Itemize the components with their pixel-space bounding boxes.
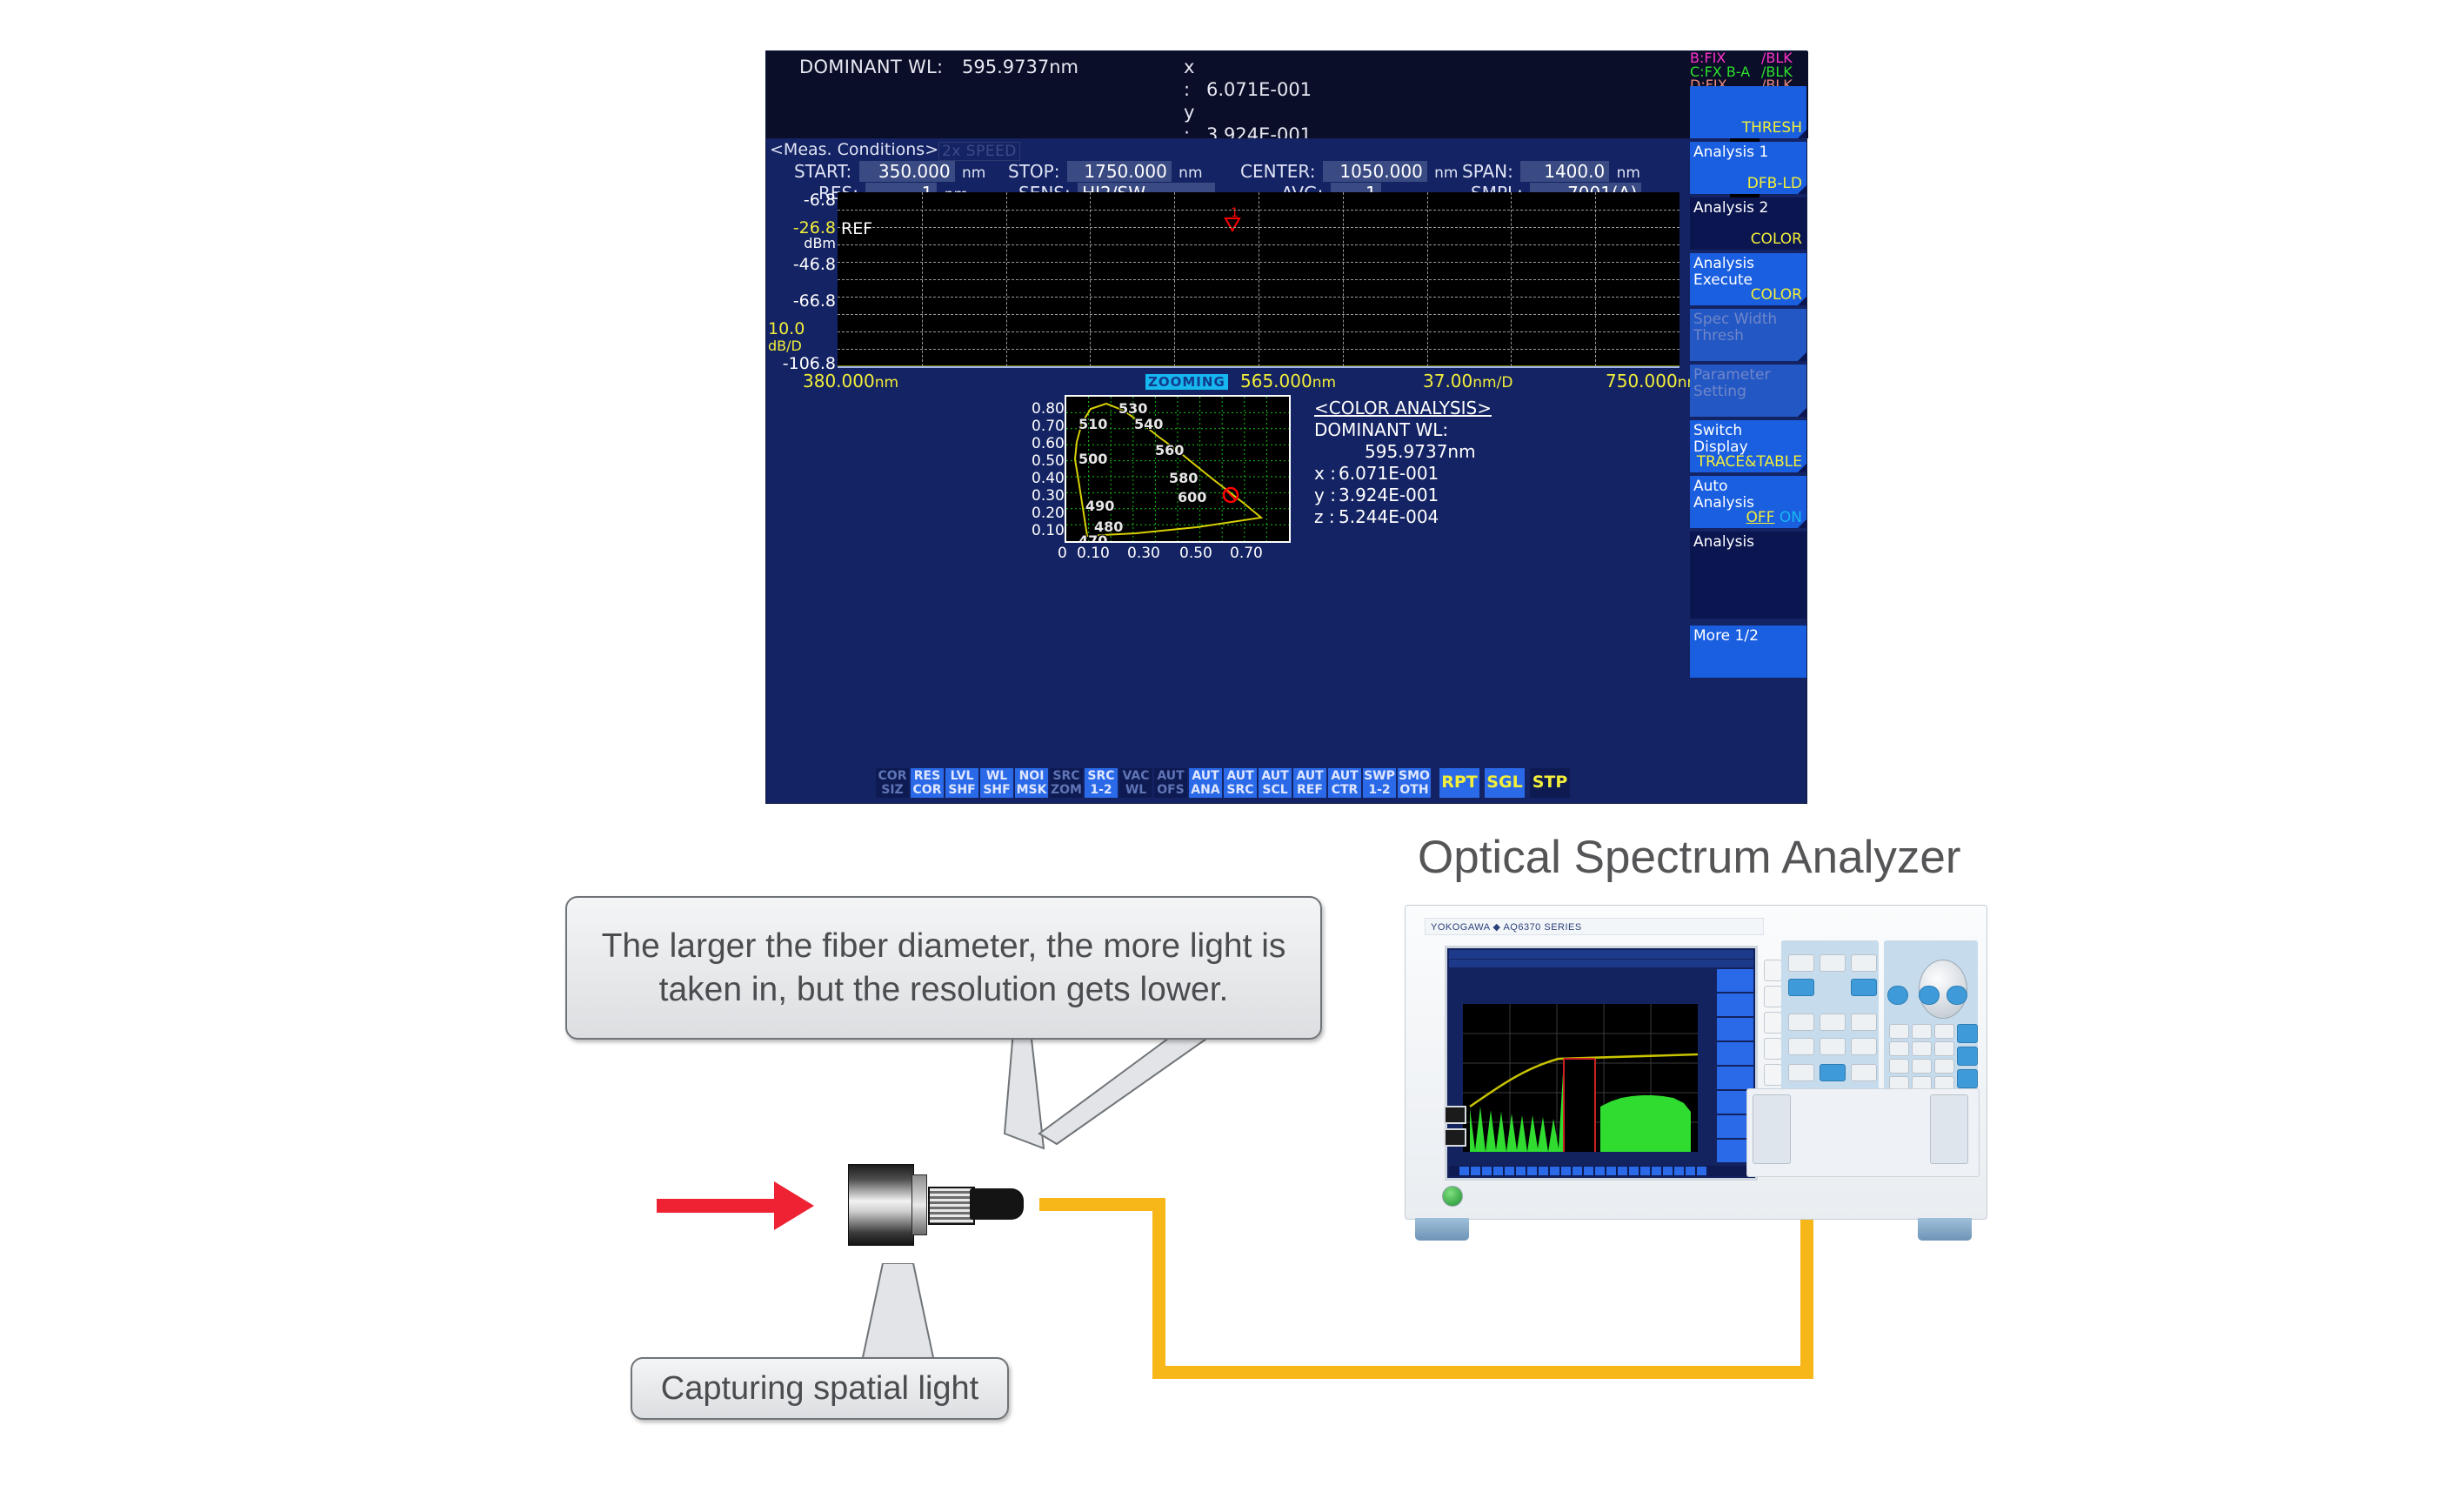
status-cell-bottom: OFS <box>1154 783 1187 797</box>
numeric-key[interactable] <box>1889 1059 1909 1074</box>
softkey-corner-marker <box>1798 185 1806 194</box>
front-panel-key[interactable] <box>1820 1064 1846 1081</box>
display-status-cell <box>1697 1167 1706 1175</box>
ca-y-value: 3.924E-001 <box>1339 485 1439 505</box>
chroma-x-tick: 0.70 <box>1230 545 1263 562</box>
softkey-panel: THRESHAnalysis 1DFB-LDAnalysis 2COLORAna… <box>1688 51 1808 805</box>
ca-x-value: 6.071E-001 <box>1339 463 1439 484</box>
span-unit: nm <box>1617 164 1640 182</box>
front-panel-key[interactable] <box>1788 1038 1814 1055</box>
unit-key[interactable] <box>1957 1047 1978 1066</box>
collimator-ring <box>911 1174 927 1235</box>
instrument-foot-left <box>1415 1218 1469 1241</box>
chromaticity-diagram: 0.800.700.600.500.400.300.200.10 00.100.… <box>1032 395 1298 556</box>
softkey-auto-analysis[interactable]: AutoAnalysisOFF ON <box>1690 476 1806 528</box>
meas-conditions-panel: <Meas. Conditions> 2x SPEED START: 350.0… <box>766 138 1686 191</box>
tail-to-connector <box>1005 1031 1044 1148</box>
display-status-cell <box>1663 1167 1673 1175</box>
status-cell-top: COR <box>876 769 909 783</box>
softkey-value: COLOR <box>1751 231 1802 248</box>
grid-line-horizontal <box>838 279 1679 280</box>
display-green-noise-left <box>1470 1058 1564 1152</box>
display-plateau-fill <box>1564 1059 1595 1152</box>
chroma-x-tick: 0.30 <box>1127 545 1160 562</box>
softkey-corner-marker <box>1798 408 1806 417</box>
numeric-key[interactable] <box>1934 1024 1954 1039</box>
status-cell-top: VAC <box>1119 769 1152 783</box>
fiber-boot <box>970 1188 1024 1220</box>
status-cell-autofs[interactable]: AUTOFS <box>1154 768 1187 798</box>
y-axis: -6.8 -26.8 dBm -46.8 -66.8 10.0 dB/D -10… <box>766 192 838 379</box>
front-panel-key[interactable] <box>1820 954 1846 972</box>
color-analysis-panel: <COLOR ANALYSIS> DOMINANT WL: 595.9737nm… <box>1314 398 1492 528</box>
sweep-button-sgl[interactable]: SGL <box>1485 768 1525 798</box>
status-cell-bottom: ANA <box>1189 783 1222 797</box>
power-button[interactable] <box>1442 1186 1463 1207</box>
usb-port-2[interactable] <box>1444 1128 1466 1147</box>
status-cell-bottom: REF <box>1293 783 1326 797</box>
display-softkey[interactable] <box>1717 1067 1753 1089</box>
start-unit: nm <box>962 164 985 182</box>
connector-knurl <box>928 1187 975 1225</box>
display-status-cell <box>1674 1167 1684 1175</box>
ca-x-key: x : <box>1314 463 1339 485</box>
callout-capturing-spatial-light: Capturing spatial light <box>631 1357 1009 1420</box>
instrument-brand-label: YOKOGAWA ◆ AQ6370 SERIES <box>1425 918 1764 935</box>
status-cell-bottom: SCL <box>1259 783 1292 797</box>
grid-line-horizontal <box>838 227 1679 228</box>
usb-port-1[interactable] <box>1444 1106 1466 1124</box>
spatial-tail <box>831 1263 1022 1372</box>
field-center[interactable]: CENTER: 1050.000 nm <box>1240 161 1459 182</box>
chroma-wavelength-tag: 490 <box>1085 498 1114 514</box>
fiber-segment-3 <box>1152 1366 1813 1379</box>
display-status-cell <box>1618 1167 1627 1175</box>
display-status-cell <box>1606 1167 1616 1175</box>
softkey-corner-marker <box>1798 464 1806 472</box>
stop-unit: nm <box>1179 164 1202 182</box>
chroma-wavelength-tag: 560 <box>1155 442 1184 458</box>
status-cell-top: AUT <box>1259 769 1292 783</box>
display-status-cell <box>1459 1167 1469 1175</box>
chroma-y-tick: 0.20 <box>1032 505 1063 522</box>
x-tick-start: 380.000nm <box>803 371 898 391</box>
front-panel-key[interactable] <box>1820 1014 1846 1031</box>
status-cell-wlshf[interactable]: WLSHF <box>980 768 1013 798</box>
instrument-display <box>1445 946 1758 1181</box>
fiber-collimator <box>848 1164 1052 1244</box>
field-stop[interactable]: STOP: 1750.000 nm <box>1008 161 1203 182</box>
display-status-cell <box>1652 1167 1661 1175</box>
status-cell-src1-2[interactable]: SRC1-2 <box>1085 768 1118 798</box>
chroma-wavelength-tag: 530 <box>1118 400 1147 417</box>
status-cell-top: NOI <box>1015 769 1048 783</box>
span-value: 1400.0 <box>1520 161 1609 182</box>
front-panel-key[interactable] <box>1788 954 1814 972</box>
softkey-switch-display[interactable]: SwitchDisplayTRACE&TABLE <box>1690 420 1806 472</box>
status-cell-top: SRC <box>1050 769 1083 783</box>
softkey-label: More 1/2 <box>1693 628 1803 645</box>
tail-to-collimator <box>861 1263 935 1366</box>
chroma-y-tick: 0.60 <box>1032 435 1063 452</box>
front-panel-key[interactable] <box>1851 1064 1877 1081</box>
readout-band: DOMINANT WL: 595.9737nm x :6.071E-001 y … <box>766 51 1686 138</box>
chroma-wavelength-tag: 600 <box>1178 489 1206 505</box>
status-cell-top: SRC <box>1085 769 1118 783</box>
x-tick-center: 565.000nm <box>1240 371 1336 391</box>
status-cell-autref[interactable]: AUTREF <box>1293 768 1326 798</box>
ca-dominant-value: 595.9737nm <box>1314 441 1492 463</box>
numeric-key[interactable] <box>1934 1059 1954 1074</box>
instrument-foot-right <box>1918 1218 1972 1241</box>
arrow-key[interactable] <box>1887 986 1908 1005</box>
softkey-corner-marker <box>1798 297 1806 305</box>
stop-value: 1750.000 <box>1067 161 1172 182</box>
status-cell-autctr[interactable]: AUTCTR <box>1328 768 1361 798</box>
softkey-thresh[interactable]: THRESH <box>1690 86 1806 138</box>
softkey-label: Spec WidthThresh <box>1693 311 1803 345</box>
status-cell-bottom: CTR <box>1328 783 1361 797</box>
ca-z-key: z : <box>1314 506 1339 528</box>
bezel-key-4[interactable] <box>1764 1038 1782 1060</box>
dominant-wl-label: DOMINANT WL: <box>799 57 943 77</box>
status-cell-autsrc[interactable]: AUTSRC <box>1224 768 1257 798</box>
softkey-label: ParameterSetting <box>1693 367 1803 400</box>
chroma-wavelength-tag: 510 <box>1078 416 1107 432</box>
grid-line-horizontal <box>838 210 1679 211</box>
chroma-x-tick: 0.50 <box>1179 545 1212 562</box>
y-tick-3: -66.8 <box>793 291 836 311</box>
stop-label: STOP: <box>1008 161 1059 182</box>
status-cell-bottom: OTH <box>1398 783 1431 797</box>
status-cell-smooth[interactable]: SMOOTH <box>1398 768 1431 798</box>
y-tick-2: -46.8 <box>793 255 836 274</box>
status-cell-corsiz[interactable]: CORSIZ <box>876 768 909 798</box>
softkey-parameter-setting[interactable]: ParameterSetting <box>1690 365 1806 417</box>
x-axis: 380.000nm ZOOMING 565.000nm 37.00nm/D 75… <box>766 371 1686 395</box>
grid-line-horizontal <box>838 349 1679 350</box>
grid-line-horizontal <box>838 314 1679 315</box>
softkey-analysis[interactable]: Analysis <box>1690 532 1806 619</box>
chroma-x-tick: 0.10 <box>1077 545 1110 562</box>
bezel-key-2[interactable] <box>1764 986 1782 1007</box>
chroma-wavelength-tag: 470 <box>1078 532 1107 543</box>
chroma-y-tick: 0.70 <box>1032 418 1063 435</box>
status-cell-noimsk[interactable]: NOIMSK <box>1015 768 1048 798</box>
status-cell-top: AUT <box>1328 769 1361 783</box>
numeric-key[interactable] <box>1889 1024 1909 1039</box>
ca-z-value: 5.244E-004 <box>1339 506 1439 527</box>
scale-per-div-unit: dB/D <box>768 338 802 354</box>
chroma-wavelength-tag: 500 <box>1078 451 1107 467</box>
center-label: CENTER: <box>1240 161 1315 182</box>
field-start[interactable]: START: 350.000 nm <box>794 161 985 182</box>
chroma-wavelength-tag: 580 <box>1169 470 1198 486</box>
bezel-key-5[interactable] <box>1764 1064 1782 1086</box>
callout-fiber-diameter: The larger the fiber diameter, the more … <box>565 896 1322 1040</box>
status-cell-top: AUT <box>1293 769 1326 783</box>
status-cell-top: AUT <box>1154 769 1187 783</box>
softkey-value: DFB-LD <box>1747 176 1802 192</box>
unit-key[interactable] <box>1957 1069 1978 1088</box>
numeric-key[interactable] <box>1912 1059 1932 1074</box>
start-value: 350.000 <box>859 161 955 182</box>
status-cell-vacwl[interactable]: VACWL <box>1119 768 1152 798</box>
chroma-y-tick: 0.40 <box>1032 470 1063 487</box>
status-cell-bottom: SHF <box>945 783 978 797</box>
marker-triangle-icon <box>1225 218 1239 231</box>
display-status-cell <box>1550 1167 1559 1175</box>
display-status-cell <box>1516 1167 1526 1175</box>
front-panel-key[interactable] <box>1788 979 1814 996</box>
x-tick-stop: 750.000nm <box>1606 371 1701 391</box>
grid-line-horizontal <box>838 262 1679 263</box>
display-status-cell <box>1595 1167 1605 1175</box>
instrument-chassis: YOKOGAWA ◆ AQ6370 SERIES <box>1405 905 1987 1220</box>
display-status-cell <box>1527 1167 1537 1175</box>
spectrum-plot-area[interactable]: 1 <box>838 192 1679 368</box>
status-cell-rescor[interactable]: RESCOR <box>911 768 944 798</box>
chroma-y-tick: 0.10 <box>1032 522 1063 539</box>
softkey-analysis-2[interactable]: Analysis 2COLOR <box>1690 197 1806 250</box>
softkey-label: Analysis <box>1693 534 1803 551</box>
sweep-button-rpt[interactable]: RPT <box>1439 768 1479 798</box>
softkey-label: AnalysisExecute <box>1693 256 1803 289</box>
chroma-y-tick: 0.30 <box>1032 487 1063 505</box>
status-cell-bottom: 1-2 <box>1085 783 1118 797</box>
display-status-cell <box>1493 1167 1503 1175</box>
osa-screen: DOMINANT WL: 595.9737nm x :6.071E-001 y … <box>765 50 1807 804</box>
numeric-key[interactable] <box>1889 1041 1909 1056</box>
input-light-arrow-head <box>774 1181 814 1230</box>
front-panel-key[interactable] <box>1851 1038 1877 1055</box>
diagram-title: Optical Spectrum Analyzer <box>1418 831 1960 884</box>
scale-per-div-value: 10.0 <box>768 321 805 338</box>
softkey-label: Analysis 2 <box>1693 200 1803 217</box>
front-panel-key[interactable] <box>1851 979 1877 996</box>
arrow-key[interactable] <box>1946 986 1967 1005</box>
status-cell-bottom: MSK <box>1015 783 1048 797</box>
status-cell-bottom: SRC <box>1224 783 1257 797</box>
display-header-bar-2 <box>1449 960 1753 967</box>
fiber-coupling-diagram: Optical Spectrum Analyzer The larger the… <box>0 835 2464 1512</box>
status-cell-top: WL <box>980 769 1013 783</box>
fiber-segment-2 <box>1152 1198 1165 1379</box>
input-light-arrow-shaft <box>657 1199 783 1213</box>
display-trace-svg <box>1463 1004 1698 1152</box>
display-status-cell <box>1629 1167 1639 1175</box>
display-softkey[interactable] <box>1717 1042 1753 1065</box>
field-span[interactable]: SPAN: 1400.0 nm <box>1462 161 1640 182</box>
softkey-more-1-2[interactable]: More 1/2 <box>1690 626 1806 678</box>
unit-key[interactable] <box>1957 1024 1978 1043</box>
softkey-corner-marker <box>1798 352 1806 361</box>
chroma-wavelength-tag: 540 <box>1134 416 1163 432</box>
front-panel-key[interactable] <box>1788 1014 1814 1031</box>
arrow-key[interactable] <box>1919 986 1940 1005</box>
grid-line-horizontal <box>838 244 1679 245</box>
softkey-corner-marker <box>1798 519 1806 528</box>
display-softkey[interactable] <box>1717 994 1753 1016</box>
display-status-cell <box>1584 1167 1593 1175</box>
center-value: 1050.000 <box>1323 161 1427 182</box>
collimator-barrel <box>848 1164 914 1246</box>
status-bar: CORSIZRESCORLVLSHFWLSHFNOIMSKSRCZOMSRC1-… <box>766 768 1686 799</box>
y-tick-top: -6.8 <box>804 191 836 210</box>
x-key: x : <box>1184 56 1206 101</box>
front-panel-key[interactable] <box>1788 1064 1814 1081</box>
status-cell-top: LVL <box>945 769 978 783</box>
status-cell-autscl[interactable]: AUTSCL <box>1259 768 1292 798</box>
optical-input-port-panel <box>1746 1088 1980 1177</box>
display-plot <box>1463 1004 1698 1152</box>
ref-line-label: REF <box>841 219 872 238</box>
tail-to-instrument <box>1039 1031 1218 1144</box>
bezel-key-1[interactable] <box>1764 960 1782 981</box>
display-status-cell <box>1505 1167 1514 1175</box>
ca-y-key: y : <box>1314 485 1339 506</box>
softkey-corner-marker <box>1798 241 1806 250</box>
display-status-cell <box>1482 1167 1492 1175</box>
speed-badge: 2x SPEED <box>938 142 1020 161</box>
softkey-analysis-execute[interactable]: AnalysisExecuteCOLOR <box>1690 253 1806 305</box>
fiber-segment-1 <box>1039 1198 1165 1211</box>
status-cell-bottom: SHF <box>980 783 1013 797</box>
sweep-button-stp[interactable]: STP <box>1530 768 1570 798</box>
dominant-wl-value: 595.9737nm <box>962 57 1078 77</box>
x-value: 6.071E-001 <box>1206 78 1337 101</box>
optical-input-lever[interactable] <box>1753 1094 1791 1164</box>
grid-line-horizontal <box>838 331 1679 332</box>
status-cell-lvlshf[interactable]: LVLSHF <box>945 768 978 798</box>
display-green-right <box>1600 1095 1691 1152</box>
display-status-cell <box>1640 1167 1650 1175</box>
chroma-y-tick: 0.80 <box>1032 400 1063 418</box>
chroma-y-tick: 0.50 <box>1032 452 1063 470</box>
status-cell-bottom: SIZ <box>876 783 909 797</box>
zooming-badge: ZOOMING <box>1145 374 1228 390</box>
numeric-key[interactable] <box>1912 1041 1932 1056</box>
front-panel-key[interactable] <box>1851 954 1877 972</box>
display-status-cell <box>1686 1167 1695 1175</box>
softkey-label: SwitchDisplay <box>1693 423 1803 456</box>
bezel-key-3[interactable] <box>1764 1012 1782 1034</box>
status-cell-top: AUT <box>1189 769 1222 783</box>
chroma-x-tick: 0 <box>1058 545 1067 562</box>
softkey-value-off[interactable]: OFF <box>1746 509 1775 526</box>
numeric-key[interactable] <box>1934 1041 1954 1056</box>
display-status-cell <box>1573 1167 1582 1175</box>
display-softkey[interactable] <box>1717 969 1753 992</box>
display-softkey[interactable] <box>1717 1018 1753 1040</box>
display-status-bar <box>1449 1166 1753 1176</box>
color-analysis-title: <COLOR ANALYSIS> <box>1314 398 1492 419</box>
status-cell-bottom: ZOM <box>1050 783 1083 797</box>
span-label: SPAN: <box>1462 161 1513 182</box>
softkey-value: OFF ON <box>1746 510 1802 526</box>
status-cell-top: AUT <box>1224 769 1257 783</box>
status-cell-autana[interactable]: AUTANA <box>1189 768 1222 798</box>
x-per-div: 37.00nm/D <box>1423 371 1512 391</box>
status-cell-srczom[interactable]: SRCZOM <box>1050 768 1083 798</box>
status-cell-bottom: COR <box>911 783 944 797</box>
softkey-label: Analysis 1 <box>1693 144 1803 161</box>
grid-line-horizontal <box>838 297 1679 298</box>
chromaticity-plot-area[interactable]: 530510540560500580600490480470 <box>1065 395 1291 543</box>
calibration-output-lever[interactable] <box>1930 1094 1968 1164</box>
ca-dominant-label: DOMINANT WL: <box>1314 419 1492 441</box>
softkey-value: COLOR <box>1751 287 1802 304</box>
front-panel-key[interactable] <box>1820 1038 1846 1055</box>
softkey-corner-marker <box>1798 130 1806 138</box>
front-panel-key[interactable] <box>1851 1014 1877 1031</box>
display-status-cell <box>1561 1167 1571 1175</box>
center-unit: nm <box>1434 164 1458 182</box>
status-cell-top: SWP <box>1363 769 1396 783</box>
softkey-value: TRACE&TABLE <box>1697 454 1802 471</box>
display-status-cell <box>1471 1167 1480 1175</box>
display-status-cell <box>1539 1167 1548 1175</box>
softkey-value: THRESH <box>1742 120 1802 137</box>
softkey-spec-width-thresh[interactable]: Spec WidthThresh <box>1690 309 1806 361</box>
meas-conditions-title: <Meas. Conditions> <box>770 140 938 159</box>
display-header-bar-1 <box>1449 950 1753 959</box>
status-cell-bottom: WL <box>1119 783 1152 797</box>
optical-spectrum-analyzer-unit: YOKOGAWA ◆ AQ6370 SERIES <box>1379 905 2012 1246</box>
start-label: START: <box>794 161 851 182</box>
status-cell-swp1-2[interactable]: SWP1-2 <box>1363 768 1396 798</box>
softkey-label: AutoAnalysis <box>1693 478 1803 512</box>
softkey-analysis-1[interactable]: Analysis 1DFB-LD <box>1690 142 1806 194</box>
y-unit: dBm <box>804 235 836 251</box>
status-cell-top: RES <box>911 769 944 783</box>
spectrum-graph: -6.8 -26.8 dBm -46.8 -66.8 10.0 dB/D -10… <box>766 192 1686 379</box>
status-cell-top: SMO <box>1398 769 1431 783</box>
numeric-key[interactable] <box>1912 1024 1932 1039</box>
status-cell-bottom: 1-2 <box>1363 783 1396 797</box>
